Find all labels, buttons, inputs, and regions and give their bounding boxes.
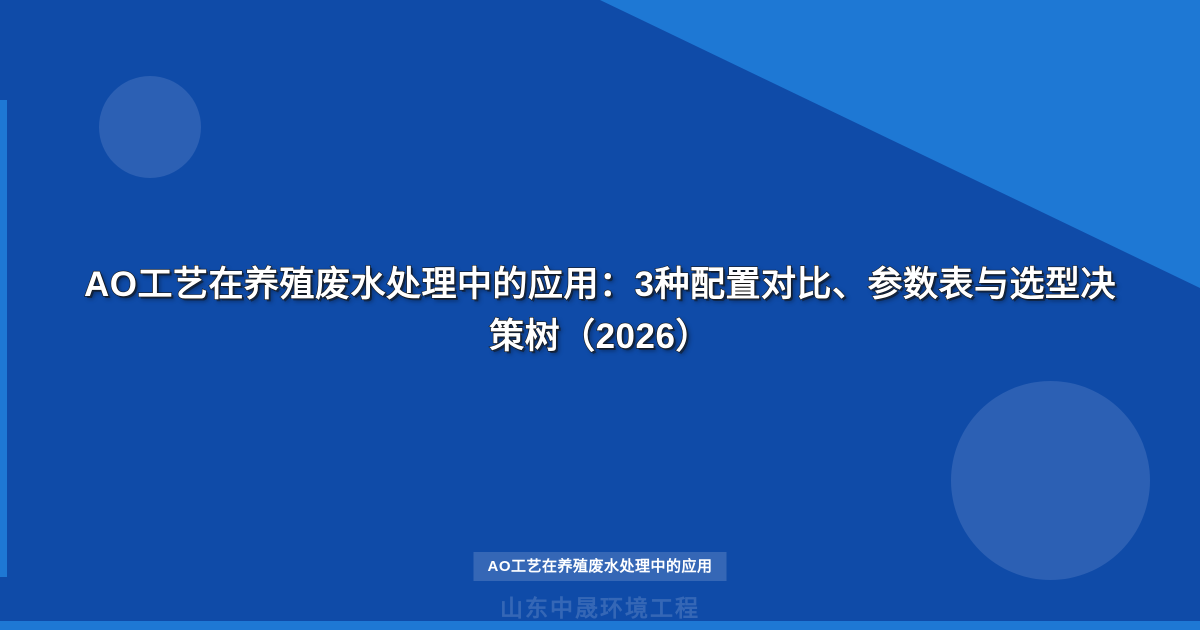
cover-banner: AO工艺在养殖废水处理中的应用：3种配置对比、参数表与选型决策树（2026） A…	[0, 0, 1200, 630]
accent-bar-bottom	[0, 621, 1200, 630]
decorative-circle-bottom-right	[951, 381, 1150, 580]
page-title: AO工艺在养殖废水处理中的应用：3种配置对比、参数表与选型决策树（2026）	[80, 259, 1120, 363]
company-watermark: 山东中晟环境工程	[0, 589, 1200, 623]
accent-bar-left	[0, 100, 7, 577]
decorative-circle-top-left	[99, 76, 201, 178]
topic-badge: AO工艺在养殖废水处理中的应用	[473, 552, 726, 581]
